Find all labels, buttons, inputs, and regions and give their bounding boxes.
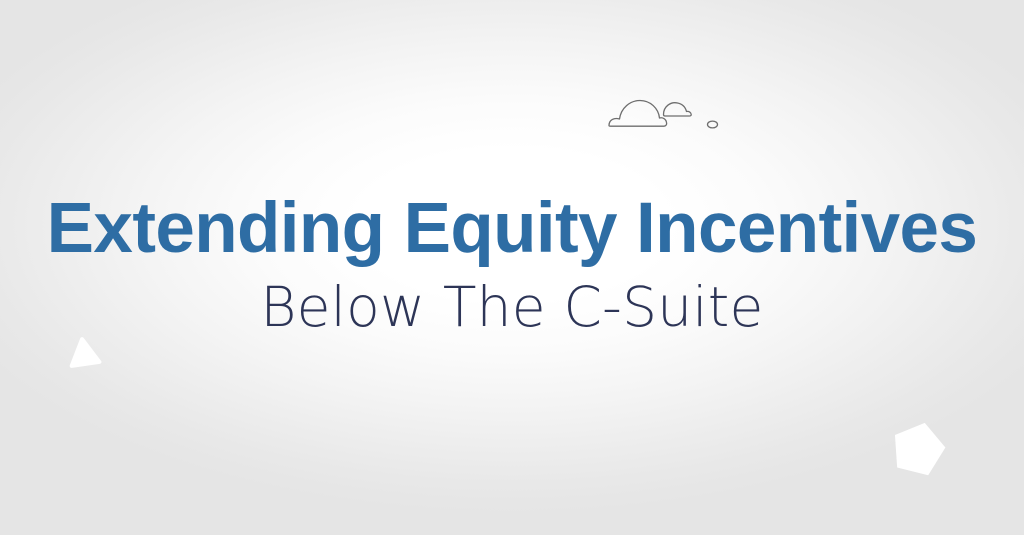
page-title: Extending Equity Incentives xyxy=(47,193,978,264)
title-slide: Extending Equity Incentives Below The C-… xyxy=(0,0,1024,535)
title-text-block: Extending Equity Incentives Below The C-… xyxy=(0,0,1024,535)
page-subtitle: Below The C-Suite xyxy=(260,280,763,335)
